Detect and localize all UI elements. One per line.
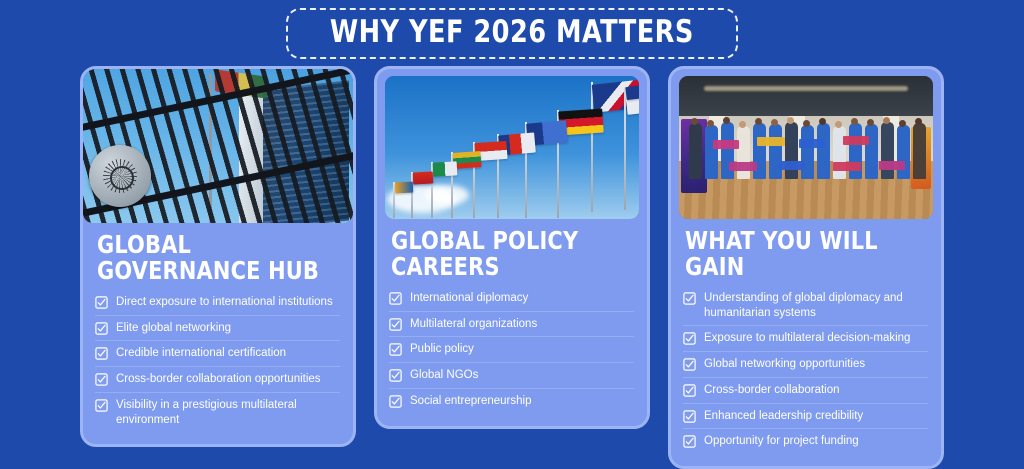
checkbox-check-icon [683,384,696,397]
list-item-label: International diplomacy [410,291,528,306]
list-item-label: Understanding of global diplomacy and hu… [704,291,926,320]
list-item: Social entrepreneurship [389,388,634,414]
card-heading: WHAT YOU WILL GAIN [685,228,910,279]
header: WHY YEF 2026 MATTERS [0,8,1024,59]
checkbox-check-icon [389,318,402,331]
title-badge: WHY YEF 2026 MATTERS [286,8,738,59]
checkbox-check-icon [389,343,402,356]
benefit-list: Direct exposure to international institu… [95,290,340,432]
checkbox-check-icon [683,410,696,423]
list-item-label: Credible international certification [116,346,286,361]
list-item-label: Cross-border collaboration opportunities [116,372,321,387]
list-item: International diplomacy [389,286,634,311]
list-item-label: Exposure to multilateral decision-making [704,331,910,346]
list-item-label: Global NGOs [410,368,478,383]
list-item: Understanding of global diplomacy and hu… [683,286,928,325]
un-headquarters-photo [83,69,353,223]
list-item-label: Visibility in a prestigious multilateral… [116,398,338,427]
checkbox-check-icon [95,322,108,335]
list-item-label: Cross-border collaboration [704,383,840,398]
list-item: Enhanced leadership credibility [683,403,928,429]
list-item: Opportunity for project funding [683,428,928,454]
list-item: Cross-border collaboration [683,377,928,403]
list-item: Multilateral organizations [389,311,634,337]
list-item: Cross-border collaboration opportunities [95,366,340,392]
list-item-label: Enhanced leadership credibility [704,409,863,424]
benefit-list: International diplomacy Multilateral org… [389,286,634,414]
list-item-label: Multilateral organizations [410,317,537,332]
list-item: Exposure to multilateral decision-making [683,325,928,351]
list-item-label: Global networking opportunities [704,357,865,372]
checkbox-check-icon [389,369,402,382]
list-item-label: Public policy [410,342,474,357]
card-heading: GLOBAL GOVERNANCE HUB [97,232,322,283]
checkbox-check-icon [95,347,108,360]
list-item: Global NGOs [389,362,634,388]
list-item-label: Elite global networking [116,321,231,336]
un-emblem-icon [89,145,151,207]
checkbox-check-icon [95,373,108,386]
benefit-list: Understanding of global diplomacy and hu… [683,286,928,454]
group-photo [679,76,933,219]
page-title: WHY YEF 2026 MATTERS [330,17,694,48]
card-global-governance-hub[interactable]: GLOBAL GOVERNANCE HUB Direct exposure to… [80,66,356,447]
list-item: Global networking opportunities [683,351,928,377]
card-global-policy-careers[interactable]: GLOBAL POLICY CAREERS International dipl… [374,66,650,429]
world-flags-photo [385,76,639,219]
list-item: Credible international certification [95,340,340,366]
checkbox-check-icon [389,292,402,305]
checkbox-check-icon [389,395,402,408]
list-item-label: Opportunity for project funding [704,434,859,449]
list-item-label: Social entrepreneurship [410,394,531,409]
checkbox-check-icon [683,332,696,345]
checkbox-check-icon [95,296,108,309]
list-item-label: Direct exposure to international institu… [116,295,333,310]
list-item: Visibility in a prestigious multilateral… [95,392,340,432]
list-item: Elite global networking [95,315,340,341]
list-item: Public policy [389,336,634,362]
checkbox-check-icon [683,435,696,448]
checkbox-check-icon [683,292,696,305]
list-item: Direct exposure to international institu… [95,290,340,315]
poster-canvas: WHY YEF 2026 MATTERS GLOBAL GOVERNANCE H… [0,0,1024,456]
card-what-you-will-gain[interactable]: WHAT YOU WILL GAIN Understanding of glob… [668,66,944,469]
checkbox-check-icon [683,358,696,371]
checkbox-check-icon [95,399,108,412]
card-heading: GLOBAL POLICY CAREERS [391,228,616,279]
card-row: GLOBAL GOVERNANCE HUB Direct exposure to… [0,66,1024,469]
